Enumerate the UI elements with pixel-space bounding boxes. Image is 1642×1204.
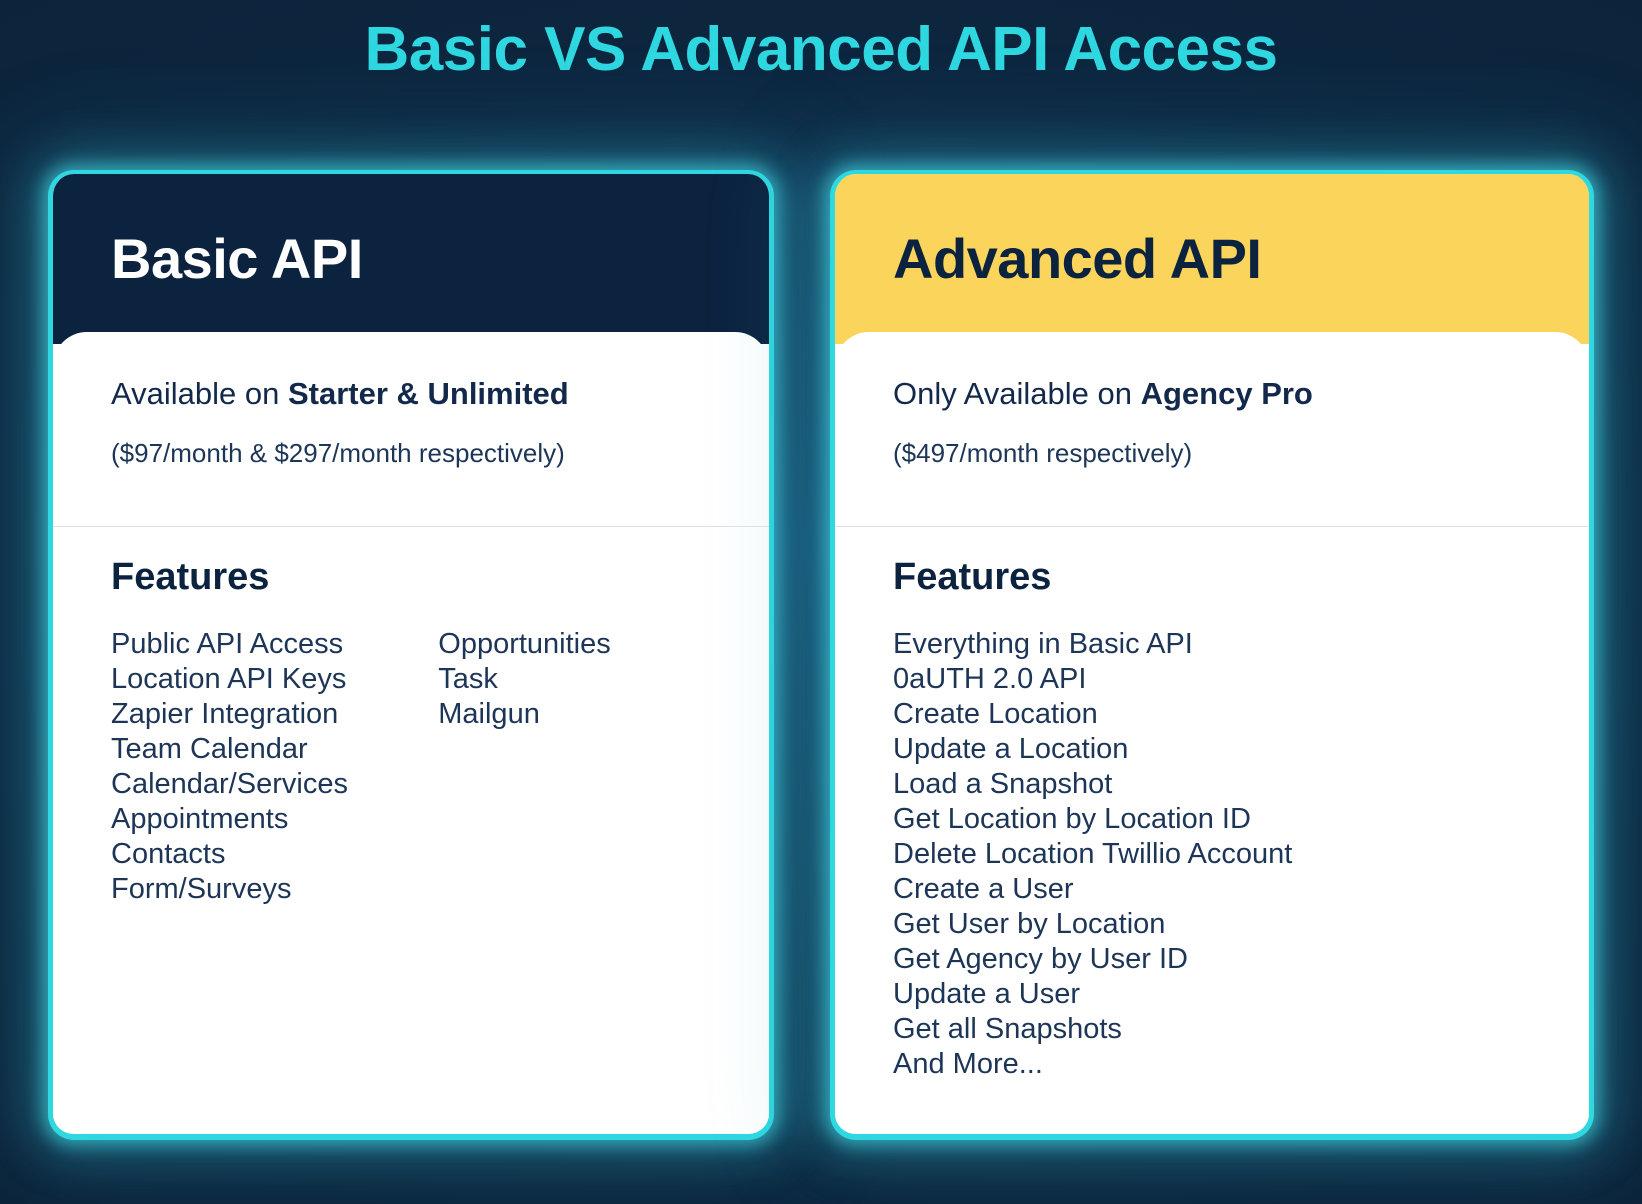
advanced-availability-line: Only Available on Agency Pro — [835, 374, 1589, 414]
basic-features-column-1: Public API Access Location API Keys Zapi… — [111, 627, 438, 907]
basic-card-body: Available on Starter & Unlimited ($97/mo… — [53, 332, 769, 1134]
page-title: Basic VS Advanced API Access — [0, 8, 1642, 92]
basic-card-header: Basic API — [53, 174, 769, 344]
list-item: Team Calendar — [111, 732, 438, 767]
basic-features-column-2: Opportunities Task Mailgun — [438, 627, 711, 907]
list-item: Zapier Integration — [111, 697, 438, 732]
list-item: Delete Location Twillio Account — [893, 837, 1292, 872]
basic-card-header-title: Basic API — [111, 231, 363, 287]
list-item: Get Location by Location ID — [893, 802, 1292, 837]
list-item: Contacts — [111, 837, 438, 872]
list-item: Public API Access — [111, 627, 438, 662]
list-item: Create Location — [893, 697, 1292, 732]
list-item: Opportunities — [438, 627, 711, 662]
advanced-features-heading: Features — [835, 527, 1589, 601]
list-item: Mailgun — [438, 697, 711, 732]
basic-features-heading: Features — [53, 527, 769, 601]
comparison-page: Basic VS Advanced API Access Basic API A… — [0, 0, 1642, 1204]
list-item: Update a Location — [893, 732, 1292, 767]
list-item: And More... — [893, 1047, 1292, 1082]
advanced-features-area: Everything in Basic API 0aUTH 2.0 API Cr… — [835, 601, 1589, 1082]
advanced-api-card: Advanced API Only Available on Agency Pr… — [830, 170, 1594, 1140]
list-item: Get User by Location — [893, 907, 1292, 942]
list-item: Form/Surveys — [111, 872, 438, 907]
advanced-availability-plans: Agency Pro — [1141, 376, 1313, 411]
advanced-price-note: ($497/month respectively) — [835, 414, 1589, 470]
advanced-features-column-1: Everything in Basic API 0aUTH 2.0 API Cr… — [893, 627, 1292, 1082]
list-item: Update a User — [893, 977, 1292, 1012]
advanced-card-header-title: Advanced API — [893, 231, 1261, 287]
basic-api-card: Basic API Available on Starter & Unlimit… — [48, 170, 774, 1140]
advanced-card-body: Only Available on Agency Pro ($497/month… — [835, 332, 1589, 1134]
list-item: Appointments — [111, 802, 438, 837]
list-item: Get Agency by User ID — [893, 942, 1292, 977]
list-item: 0aUTH 2.0 API — [893, 662, 1292, 697]
list-item: Calendar/Services — [111, 767, 438, 802]
list-item: Create a User — [893, 872, 1292, 907]
basic-price-note: ($97/month & $297/month respectively) — [53, 414, 769, 470]
advanced-card-header: Advanced API — [835, 174, 1589, 344]
list-item: Task — [438, 662, 711, 697]
basic-availability-plans: Starter & Unlimited — [288, 376, 569, 411]
list-item: Load a Snapshot — [893, 767, 1292, 802]
basic-availability-prefix: Available on — [111, 376, 288, 411]
list-item: Everything in Basic API — [893, 627, 1292, 662]
basic-availability-line: Available on Starter & Unlimited — [53, 374, 769, 414]
advanced-availability-prefix: Only Available on — [893, 376, 1141, 411]
basic-features-area: Public API Access Location API Keys Zapi… — [53, 601, 769, 907]
list-item: Get all Snapshots — [893, 1012, 1292, 1047]
list-item: Location API Keys — [111, 662, 438, 697]
